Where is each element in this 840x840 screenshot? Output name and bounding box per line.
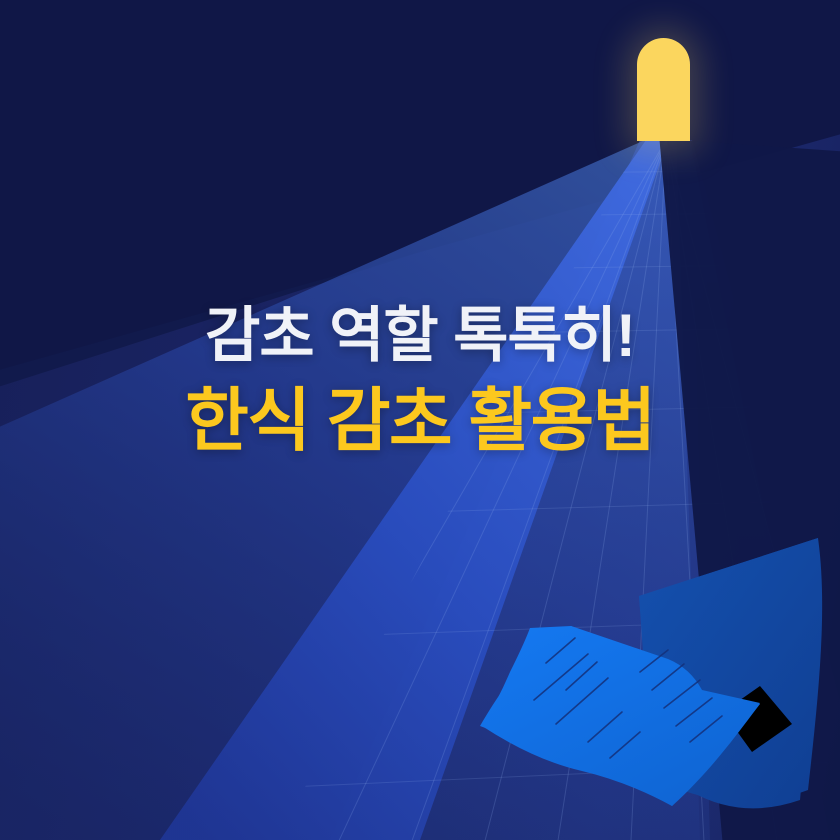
poster-canvas: 감초 역할 톡톡히! 한식 감초 활용법 xyxy=(0,0,840,840)
paper-illustration xyxy=(0,0,840,840)
